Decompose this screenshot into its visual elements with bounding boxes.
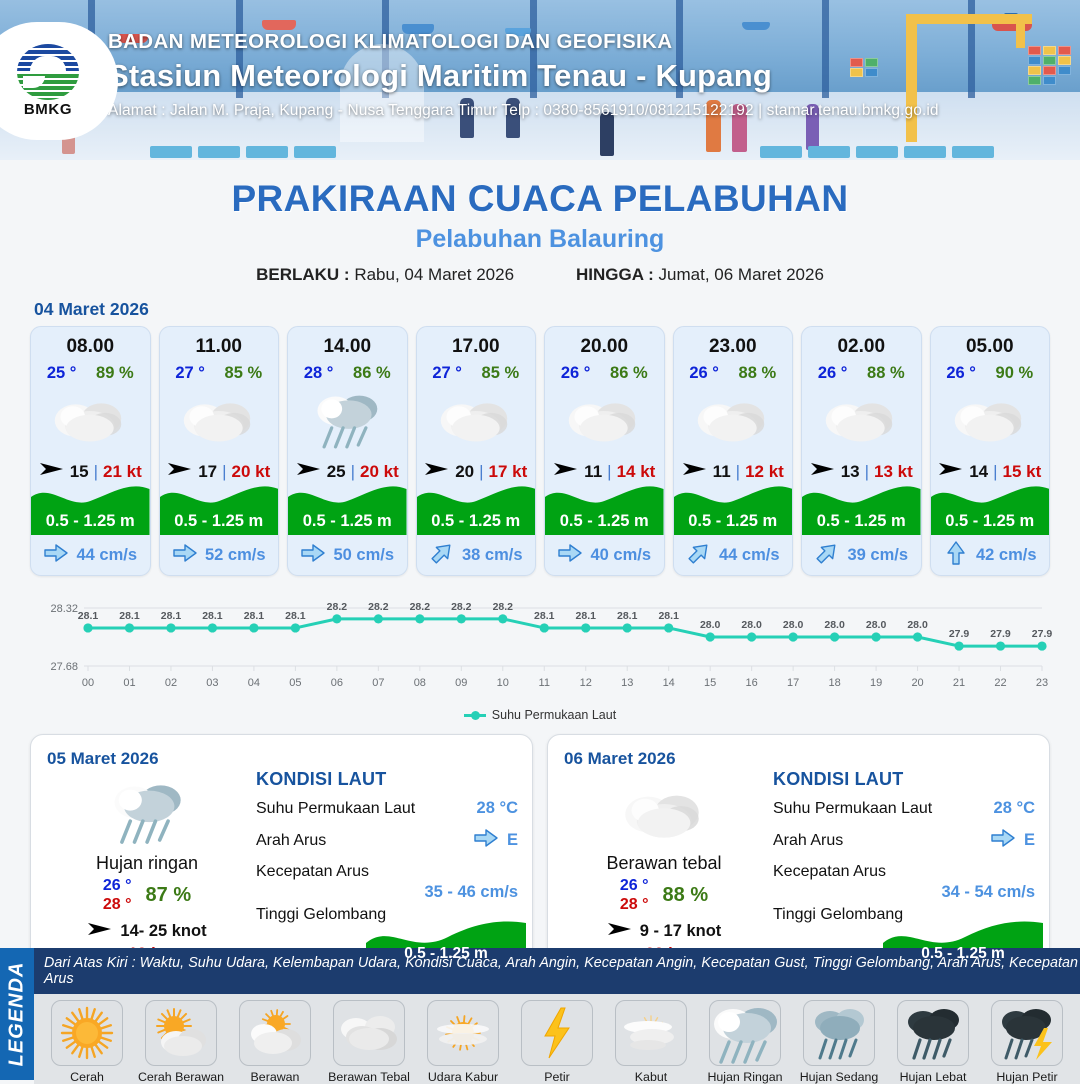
forecast-card: 11.00 27 ° 85 % 17 | 20 kt 0.5 - 1.25 m … [159, 326, 280, 576]
svg-text:09: 09 [455, 677, 467, 689]
sea-condition-title: KONDISI LAUT [256, 769, 518, 790]
svg-text:17: 17 [787, 677, 799, 689]
svg-text:28.1: 28.1 [119, 610, 140, 622]
valid-until-value: Jumat, 06 Maret 2026 [659, 265, 824, 284]
station-address: Alamat : Jalan M. Praja, Kupang - Nusa T… [108, 102, 939, 120]
wave-height: 0.5 - 1.25 m [417, 512, 536, 531]
current-speed: 38 cm/s [462, 546, 523, 565]
svg-text:14: 14 [663, 677, 675, 689]
legend-item-label: Berawan [230, 1070, 320, 1084]
humidity: 85 % [225, 364, 263, 383]
wave-height: 0.5 - 1.25 m [802, 512, 921, 531]
legend-sun-cloud-icon [145, 1000, 217, 1066]
svg-text:20: 20 [911, 677, 923, 689]
wind-direction-icon [87, 921, 113, 942]
legend-moderate-rain-icon [803, 1000, 875, 1066]
current-direction-value: E [1024, 831, 1035, 850]
svg-text:21: 21 [953, 677, 965, 689]
svg-text:28.1: 28.1 [161, 610, 182, 622]
temp-min: 26 ° [103, 877, 132, 895]
current-speed: 52 cm/s [205, 546, 266, 565]
svg-text:04: 04 [248, 677, 260, 689]
port-name: Pelabuhan Balauring [0, 225, 1080, 254]
wave-height: 0.5 - 1.25 m [545, 512, 664, 531]
page-header: BMKG BADAN METEOROLOGI KLIMATOLOGI DAN G… [0, 0, 1080, 160]
svg-text:03: 03 [206, 677, 218, 689]
current-direction-icon [990, 827, 1016, 854]
svg-text:28.2: 28.2 [451, 601, 472, 613]
weather-cloudy-icon [160, 389, 279, 449]
bmkg-logo-text: BMKG [12, 101, 84, 118]
air-temperature: 26 ° [689, 364, 719, 383]
svg-text:02: 02 [165, 677, 177, 689]
svg-text:28.2: 28.2 [327, 601, 348, 613]
wave-height: 0.5 - 1.25 m [931, 512, 1050, 531]
legend-item: Udara Kabur [418, 1000, 508, 1084]
svg-text:28.0: 28.0 [741, 619, 762, 631]
forecast-time: 05.00 [931, 327, 1050, 358]
svg-text:28.2: 28.2 [368, 601, 389, 613]
wave-height: 0.5 - 1.25 m [288, 512, 407, 531]
weather-condition: Berawan tebal [564, 853, 764, 874]
svg-text:23: 23 [1036, 677, 1048, 689]
legend-heavy-rain-icon [897, 1000, 969, 1066]
temp-max: 28 ° [103, 896, 132, 914]
humidity: 87 % [146, 884, 192, 907]
svg-text:28.0: 28.0 [866, 619, 887, 631]
svg-text:28.1: 28.1 [78, 610, 99, 622]
current-speed-value: 34 - 54 cm/s [941, 883, 1035, 902]
svg-text:16: 16 [746, 677, 758, 689]
svg-text:11: 11 [539, 677, 550, 689]
svg-text:28.0: 28.0 [907, 619, 928, 631]
legend-item: Hujan Lebat [888, 1000, 978, 1084]
wave-height: 0.5 - 1.25 m [31, 512, 150, 531]
weather-cloudy-icon [674, 389, 793, 449]
sst-value: 28 °C [994, 799, 1035, 818]
current-speed: 50 cm/s [333, 546, 394, 565]
current-direction-icon [686, 542, 712, 569]
legend-item-label: Udara Kabur [418, 1070, 508, 1084]
sst-value: 28 °C [477, 799, 518, 818]
svg-text:08: 08 [414, 677, 426, 689]
svg-text:06: 06 [331, 677, 343, 689]
current-direction-icon [814, 542, 840, 569]
wave-height: 0.5 - 1.25 m [674, 512, 793, 531]
forecast-card: 14.00 28 ° 86 % 25 | 20 kt 0.5 - 1.25 m … [287, 326, 408, 576]
agency-name: BADAN METEOROLOGI KLIMATOLOGI DAN GEOFIS… [108, 30, 939, 54]
station-name: Stasiun Meteorologi Maritim Tenau - Kupa… [108, 58, 939, 94]
legend-item: Cerah [42, 1000, 132, 1084]
chart-legend-marker [464, 714, 486, 717]
svg-text:19: 19 [870, 677, 882, 689]
humidity: 86 % [353, 364, 391, 383]
humidity: 86 % [610, 364, 648, 383]
weather-cloudy-icon [931, 389, 1050, 449]
air-temperature: 26 ° [818, 364, 848, 383]
weather-cloudy-icon [802, 389, 921, 449]
current-direction-value: E [507, 831, 518, 850]
current-direction-label: Arah Arus [773, 832, 843, 850]
svg-text:27.68: 27.68 [50, 661, 78, 673]
forecast-card: 05.00 26 ° 90 % 14 | 15 kt 0.5 - 1.25 m … [930, 326, 1051, 576]
legend-item: Hujan Petir [982, 1000, 1072, 1084]
legend-sun-icon [51, 1000, 123, 1066]
svg-text:00: 00 [82, 677, 94, 689]
forecast-card: 02.00 26 ° 88 % 13 | 13 kt 0.5 - 1.25 m … [801, 326, 922, 576]
svg-text:28.0: 28.0 [700, 619, 721, 631]
legend-item-label: Kabut [606, 1070, 696, 1084]
humidity: 89 % [96, 364, 134, 383]
forecast-time: 14.00 [288, 327, 407, 358]
current-direction-icon [429, 542, 455, 569]
legend-item: Hujan Ringan [700, 1000, 790, 1084]
forecast-card: 20.00 26 ° 86 % 11 | 14 kt 0.5 - 1.25 m … [544, 326, 665, 576]
svg-text:13: 13 [621, 677, 633, 689]
current-speed: 39 cm/s [847, 546, 908, 565]
current-speed: 44 cm/s [76, 546, 137, 565]
sst-chart: 28.3227.68000102030405060708091011121314… [26, 588, 1054, 706]
daily-summary-row: 05 Maret 2026 Hujan ringan 26 ° 28 ° 87 … [0, 722, 1080, 984]
svg-text:27.9: 27.9 [1032, 628, 1053, 640]
forecast-time: 08.00 [31, 327, 150, 358]
air-temperature: 27 ° [432, 364, 462, 383]
current-speed-value: 35 - 46 cm/s [424, 883, 518, 902]
temp-max: 28 ° [620, 896, 649, 914]
forecast-card: 08.00 25 ° 89 % 15 | 21 kt 0.5 - 1.25 m … [30, 326, 151, 576]
svg-text:05: 05 [289, 677, 301, 689]
legend-thunderstorm-icon [991, 1000, 1063, 1066]
air-temperature: 27 ° [175, 364, 205, 383]
legend-item: Kabut [606, 1000, 696, 1084]
forecast-card: 23.00 26 ° 88 % 11 | 12 kt 0.5 - 1.25 m … [673, 326, 794, 576]
current-direction-label: Arah Arus [256, 832, 326, 850]
chart-legend-label: Suhu Permukaan Laut [492, 708, 616, 722]
current-direction-icon [943, 542, 969, 569]
chart-legend: Suhu Permukaan Laut [0, 708, 1080, 722]
summary-date: 05 Maret 2026 [47, 749, 516, 769]
svg-text:27.9: 27.9 [990, 628, 1011, 640]
legend-item: Berawan [230, 1000, 320, 1084]
legend-cloud-sun-icon [239, 1000, 311, 1066]
sst-label: Suhu Permukaan Laut [773, 800, 932, 818]
wind-speed-range: 14- 25 knot [120, 922, 206, 941]
humidity: 90 % [996, 364, 1034, 383]
svg-text:28.1: 28.1 [617, 610, 638, 622]
weather-cloudy-icon [417, 389, 536, 449]
legend-haze-icon [427, 1000, 499, 1066]
svg-text:28.1: 28.1 [658, 610, 679, 622]
wave-height: 0.5 - 1.25 m [160, 512, 279, 531]
wave-height-value: 0.5 - 1.25 m [366, 945, 526, 963]
svg-text:28.1: 28.1 [285, 610, 306, 622]
weather-condition: Hujan ringan [47, 853, 247, 874]
valid-from-label: BERLAKU : [256, 265, 350, 284]
humidity: 88 % [663, 884, 709, 907]
wind-direction-icon [607, 921, 633, 942]
weather-light-rain-icon [47, 775, 247, 849]
legend-side-label: LEGENDA [0, 948, 34, 1080]
svg-text:15: 15 [704, 677, 716, 689]
legend-item-label: Cerah [42, 1070, 132, 1084]
sea-condition-title: KONDISI LAUT [773, 769, 1035, 790]
legend-item-label: Hujan Petir [982, 1070, 1072, 1084]
air-temperature: 26 ° [946, 364, 976, 383]
forecast-time: 23.00 [674, 327, 793, 358]
current-speed: 44 cm/s [719, 546, 780, 565]
svg-text:22: 22 [994, 677, 1006, 689]
valid-until-label: HINGGA : [576, 265, 654, 284]
forecast-date: 04 Maret 2026 [34, 299, 1080, 320]
bmkg-logo: BMKG [0, 22, 118, 140]
svg-text:28.1: 28.1 [202, 610, 223, 622]
svg-text:28.1: 28.1 [576, 610, 597, 622]
svg-text:28.1: 28.1 [534, 610, 555, 622]
legend-item: Hujan Sedang [794, 1000, 884, 1084]
forecast-card: 17.00 27 ° 85 % 20 | 17 kt 0.5 - 1.25 m … [416, 326, 537, 576]
forecast-time: 02.00 [802, 327, 921, 358]
air-temperature: 28 ° [304, 364, 334, 383]
svg-text:10: 10 [497, 677, 509, 689]
svg-text:28.0: 28.0 [783, 619, 804, 631]
current-speed: 40 cm/s [590, 546, 651, 565]
legend-item-label: Hujan Lebat [888, 1070, 978, 1084]
humidity: 88 % [867, 364, 905, 383]
svg-text:12: 12 [580, 677, 592, 689]
legend-item: Berawan Tebal [324, 1000, 414, 1084]
weather-cloudy-icon [564, 775, 764, 849]
humidity: 85 % [482, 364, 520, 383]
current-direction-icon [473, 827, 499, 854]
wave-height-value: 0.5 - 1.25 m [883, 945, 1043, 963]
svg-text:18: 18 [828, 677, 840, 689]
svg-text:28.0: 28.0 [824, 619, 845, 631]
svg-text:28.2: 28.2 [410, 601, 431, 613]
legend-strip: LEGENDA Dari Atas Kiri : Waktu, Suhu Uda… [0, 948, 1080, 1080]
legend-item-label: Cerah Berawan [136, 1070, 226, 1084]
page-title: PRAKIRAAN CUACA PELABUHAN [0, 178, 1080, 220]
temp-min: 26 ° [620, 877, 649, 895]
forecast-time: 20.00 [545, 327, 664, 358]
svg-text:28.32: 28.32 [50, 603, 78, 615]
forecast-time: 17.00 [417, 327, 536, 358]
humidity: 88 % [739, 364, 777, 383]
weather-light-rain-icon [288, 389, 407, 449]
forecast-card-row: 08.00 25 ° 89 % 15 | 21 kt 0.5 - 1.25 m … [0, 326, 1080, 576]
current-speed-label: Kecepatan Arus [773, 863, 886, 881]
valid-from-value: Rabu, 04 Maret 2026 [354, 265, 514, 284]
current-speed: 42 cm/s [976, 546, 1037, 565]
legend-item-label: Petir [512, 1070, 602, 1084]
daily-summary-panel: 05 Maret 2026 Hujan ringan 26 ° 28 ° 87 … [30, 734, 533, 984]
daily-summary-panel: 06 Maret 2026 Berawan tebal 26 ° 28 ° 88… [547, 734, 1050, 984]
legend-lightning-icon [521, 1000, 593, 1066]
legend-fog-icon [615, 1000, 687, 1066]
forecast-time: 11.00 [160, 327, 279, 358]
current-direction-icon [43, 542, 69, 569]
svg-text:28.1: 28.1 [244, 610, 265, 622]
validity-row: BERLAKU : Rabu, 04 Maret 2026 HINGGA : J… [0, 265, 1080, 285]
svg-text:27.9: 27.9 [949, 628, 970, 640]
current-direction-icon [300, 542, 326, 569]
svg-text:07: 07 [372, 677, 384, 689]
legend-items: Cerah Cerah Berawan Berawan Berawan Teba… [34, 994, 1080, 1084]
legend-item: Petir [512, 1000, 602, 1084]
weather-cloudy-icon [545, 389, 664, 449]
air-temperature: 26 ° [561, 364, 591, 383]
current-direction-icon [172, 542, 198, 569]
svg-text:01: 01 [123, 677, 135, 689]
svg-text:28.2: 28.2 [493, 601, 514, 613]
legend-light-rain-icon [709, 1000, 781, 1066]
weather-cloudy-icon [31, 389, 150, 449]
wind-speed-range: 9 - 17 knot [640, 922, 722, 941]
bmkg-emblem-icon [17, 44, 79, 100]
summary-date: 06 Maret 2026 [564, 749, 1033, 769]
sst-label: Suhu Permukaan Laut [256, 800, 415, 818]
current-direction-icon [557, 542, 583, 569]
air-temperature: 25 ° [47, 364, 77, 383]
legend-item-label: Berawan Tebal [324, 1070, 414, 1084]
current-speed-label: Kecepatan Arus [256, 863, 369, 881]
legend-item: Cerah Berawan [136, 1000, 226, 1084]
legend-item-label: Hujan Sedang [794, 1070, 884, 1084]
legend-clouds-icon [333, 1000, 405, 1066]
legend-item-label: Hujan Ringan [700, 1070, 790, 1084]
